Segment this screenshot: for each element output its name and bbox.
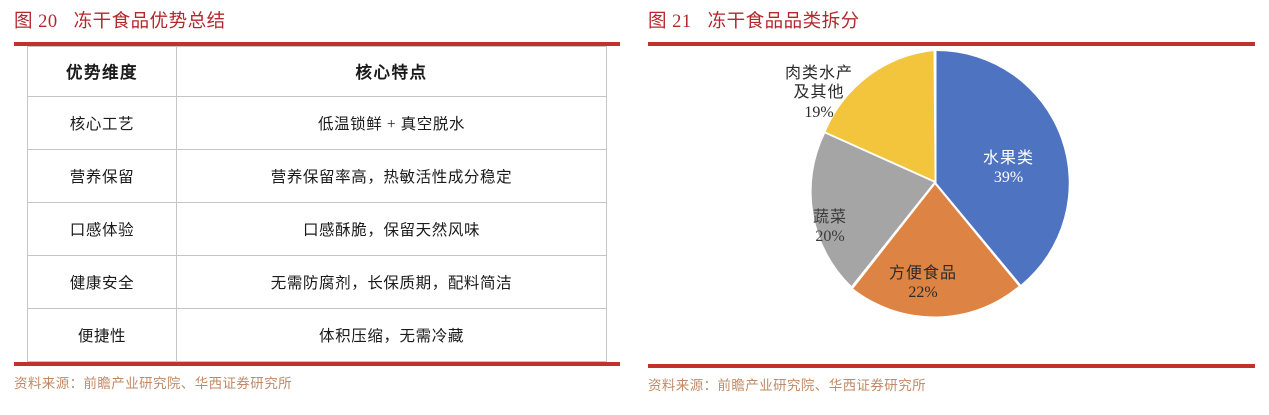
table-header-feature: 核心特点	[177, 46, 607, 96]
figure-21-panel: 图 21冻干食品品类拆分 水果类 39% 方便食品 22%	[634, 0, 1269, 415]
table-cell-dimension: 便捷性	[28, 308, 177, 361]
table-cell-feature: 体积压缩，无需冷藏	[177, 308, 607, 361]
table-row: 营养保留 营养保留率高，热敏活性成分稳定	[28, 149, 607, 202]
table-cell-dimension: 口感体验	[28, 202, 177, 255]
figure-20-number: 图 20	[14, 12, 58, 32]
pie-chart-svg	[800, 48, 1070, 318]
table-cell-feature: 无需防腐剂，长保质期，配料简洁	[177, 255, 607, 308]
table-header-row: 优势维度 核心特点	[28, 46, 607, 96]
figure-21-title-text: 冻干食品品类拆分	[708, 12, 860, 32]
figure-21-number: 图 21	[648, 12, 692, 32]
table-cell-dimension: 健康安全	[28, 255, 177, 308]
table-cell-feature: 营养保留率高，热敏活性成分稳定	[177, 149, 607, 202]
table-row: 核心工艺 低温锁鲜 + 真空脱水	[28, 96, 607, 149]
figure-20-table-wrap: 优势维度 核心特点 核心工艺 低温锁鲜 + 真空脱水 营养保留 营养保留率高，热…	[14, 46, 620, 362]
figure-21-title: 图 21冻干食品品类拆分	[648, 0, 1255, 32]
category-breakdown-pie-chart: 水果类 39% 方便食品 22% 蔬菜 20% 肉类水产 及其他 19%	[648, 46, 1255, 364]
figure-20-panel: 图 20冻干食品优势总结 优势维度 核心特点 核心工艺 低温锁鲜 + 真空脱水 …	[0, 0, 634, 415]
report-figure-page: 图 20冻干食品优势总结 优势维度 核心特点 核心工艺 低温锁鲜 + 真空脱水 …	[0, 0, 1269, 415]
table-row: 便捷性 体积压缩，无需冷藏	[28, 308, 607, 361]
advantages-table: 优势维度 核心特点 核心工艺 低温锁鲜 + 真空脱水 营养保留 营养保留率高，热…	[27, 46, 607, 362]
table-row: 口感体验 口感酥脆，保留天然风味	[28, 202, 607, 255]
figure-20-title-text: 冻干食品优势总结	[74, 12, 226, 32]
figure-21-source: 资料来源：前瞻产业研究院、华西证券研究所	[648, 368, 1255, 394]
figure-20-title: 图 20冻干食品优势总结	[14, 0, 620, 32]
table-cell-dimension: 营养保留	[28, 149, 177, 202]
table-cell-feature: 口感酥脆，保留天然风味	[177, 202, 607, 255]
table-row: 健康安全 无需防腐剂，长保质期，配料简洁	[28, 255, 607, 308]
table-cell-feature: 低温锁鲜 + 真空脱水	[177, 96, 607, 149]
figure-20-source: 资料来源：前瞻产业研究院、华西证券研究所	[14, 366, 620, 392]
table-header-dimension: 优势维度	[28, 46, 177, 96]
table-cell-dimension: 核心工艺	[28, 96, 177, 149]
